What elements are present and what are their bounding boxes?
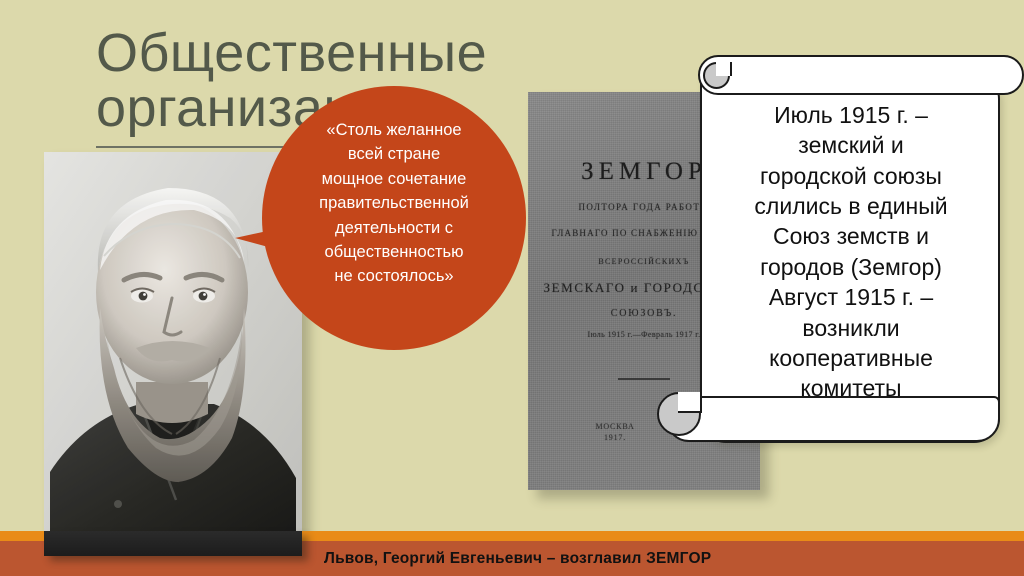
info-card-text: Июль 1915 г. – земский и городской союзы… bbox=[706, 100, 996, 404]
document-divider-rule bbox=[618, 378, 670, 380]
info-card-top-scroll-bar bbox=[698, 55, 1024, 95]
scroll-curl-bottom-highlight bbox=[678, 392, 702, 413]
presentation-slide: Общественные организации bbox=[0, 0, 1024, 576]
portrait-banner-overlap bbox=[44, 531, 302, 556]
scroll-curl-top-highlight bbox=[716, 62, 732, 76]
quote-bubble-text: «Столь желанное всей стране мощное сочет… bbox=[268, 118, 520, 289]
caption-banner-text: Львов, Георгий Евгеньевич – возглавил ЗЕ… bbox=[324, 541, 711, 576]
